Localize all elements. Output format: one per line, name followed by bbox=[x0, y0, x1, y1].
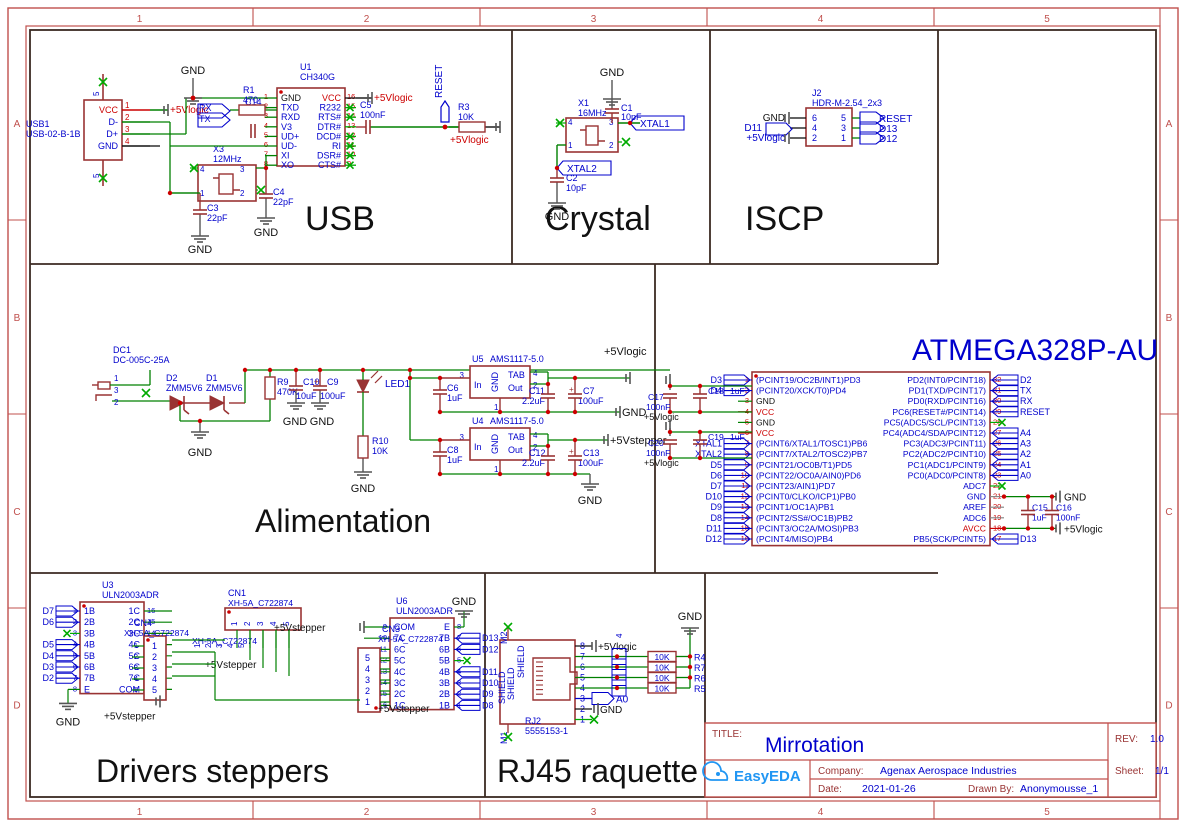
rj2-value: 5555153-1 bbox=[525, 726, 568, 736]
junction-dot bbox=[1050, 526, 1054, 530]
net-5vlogic-r3: +5Vlogic bbox=[450, 135, 489, 146]
atmega-right-pin-21: GND bbox=[967, 492, 986, 502]
atmega-right-net-A3: A3 bbox=[1020, 439, 1031, 449]
c14-cap bbox=[251, 124, 255, 138]
x1-element bbox=[586, 126, 598, 145]
atmega-left-net-D6: D6 bbox=[710, 470, 722, 480]
row-tick-right: B bbox=[1166, 313, 1173, 324]
x1-p1-junction bbox=[555, 166, 559, 170]
decoupling-group: C17100nFC181uF+5Vlogic bbox=[644, 382, 745, 422]
u1-left-num-6: 6 bbox=[264, 140, 268, 149]
atmega-right-net-A1: A1 bbox=[1020, 460, 1031, 470]
r9-value: 470K bbox=[277, 387, 298, 397]
atmega-right-pin-20: AREF bbox=[963, 502, 986, 512]
j2-right-pin-3: 3 bbox=[841, 123, 846, 133]
x3-pin2: 2 bbox=[240, 189, 245, 198]
u6-left-pin-15: 2C bbox=[394, 689, 406, 699]
atmega-right-pin-31: PD1(TXD/PCINT17) bbox=[909, 386, 986, 396]
c8-ref: C8 bbox=[447, 445, 459, 455]
atmega-right-pin-26: PC3(ADC3/PCINT11) bbox=[904, 439, 987, 449]
alim-gnd-junction bbox=[198, 419, 202, 423]
atmega-left-net-D9: D9 bbox=[710, 502, 722, 512]
col-tick-top: 3 bbox=[591, 14, 597, 25]
net-5vstepper-cn1: +5Vstepper bbox=[205, 660, 257, 671]
net-5vlogic-iscp: +5Vlogic bbox=[746, 133, 785, 144]
u1-value: CH340G bbox=[300, 72, 335, 82]
junction-dot bbox=[1026, 526, 1030, 530]
u5-regulator-num-1: 1 bbox=[494, 403, 499, 412]
atmega-left-pin-12: (PCINT0/CLKO/ICP1)PB0 bbox=[756, 492, 856, 502]
row-tick-right: D bbox=[1165, 701, 1172, 712]
net-reset-usb: RESET bbox=[434, 65, 445, 98]
c20-cap-value: 100nF bbox=[646, 448, 670, 458]
cn3-pin-3: 3 bbox=[365, 675, 370, 685]
usb1-pin-name-3: D+ bbox=[106, 129, 118, 139]
net-tx-usb: TX bbox=[199, 114, 211, 124]
atmega-left-pin-2: (PCINT20/XCK/T0)PD4 bbox=[756, 386, 846, 396]
x3-pin4: 4 bbox=[200, 165, 205, 174]
usb1-pin-num-4: 4 bbox=[125, 137, 130, 146]
r3-value: 10K bbox=[458, 112, 474, 122]
dc1-spring bbox=[96, 395, 112, 401]
cn2-pin-1: 1 bbox=[193, 643, 202, 648]
u1-right-pin-10: DSR# bbox=[317, 151, 341, 161]
col-tick-top: 1 bbox=[137, 14, 143, 25]
u3-left-pin-7: 7B bbox=[84, 673, 95, 683]
usb1-shield-pin-top: 5 bbox=[92, 91, 101, 96]
cn4-value: XH-5A_C722874 bbox=[124, 628, 189, 638]
x1-value: 16MHz bbox=[578, 108, 607, 118]
c10-junction bbox=[294, 368, 298, 372]
net-gnd-iscp: GND bbox=[763, 113, 785, 124]
d2-diode: D2ZMM5V6 bbox=[166, 373, 203, 414]
cn2-pin-5: 5 bbox=[237, 643, 246, 648]
sheet-label: Sheet: bbox=[1115, 766, 1144, 777]
col-tick-bottom: 2 bbox=[364, 807, 370, 818]
date-label: Date: bbox=[818, 784, 842, 795]
drawn-value: Anonymousse_1 bbox=[1020, 783, 1098, 795]
rj2-shield-3: SHIELD bbox=[516, 645, 526, 678]
c3-value: 22pF bbox=[207, 213, 228, 223]
cn3-pin-5: 5 bbox=[365, 653, 370, 663]
u3-e-gnd bbox=[59, 703, 77, 709]
u1-right-num-16: 16 bbox=[347, 92, 355, 101]
net-5vlogic-rj45: +5Vlogic bbox=[598, 642, 637, 653]
u1-left-pin-2: TXD bbox=[281, 103, 300, 113]
c5-value: 100nF bbox=[360, 110, 386, 120]
c8-j2 bbox=[438, 472, 442, 476]
block-caption-drivers: Drivers steppers bbox=[96, 753, 329, 789]
usb1-pin-name-2: D- bbox=[109, 117, 119, 127]
atmega-right-pin-28: PC5(ADC5/SCL/PCINT13) bbox=[884, 417, 986, 427]
junction-dot bbox=[698, 430, 702, 434]
c2-ref: C2 bbox=[566, 173, 578, 183]
r1-ref: R1 bbox=[243, 85, 255, 95]
rev-value: 1.0 bbox=[1150, 734, 1164, 745]
u6-left-pin-14: 3C bbox=[394, 678, 406, 688]
u3-left-pin-3: 3B bbox=[84, 628, 95, 638]
u1-ref: U1 bbox=[300, 62, 312, 72]
u1-right-pin-13: DTR# bbox=[317, 122, 341, 132]
u6-value: ULN2003ADR bbox=[396, 606, 454, 616]
atmega-section: (PCINT19/OC2B/INT1)PD31D3(PCINT20/XCK/T0… bbox=[644, 372, 1103, 546]
r3-ref: R3 bbox=[458, 102, 470, 112]
title-label: TITLE: bbox=[712, 729, 742, 740]
junction-dot bbox=[668, 456, 672, 460]
dc1-pin3: 3 bbox=[114, 386, 119, 395]
c8-j1 bbox=[438, 438, 442, 442]
net-5vlogic-decouple: +5Vlogic bbox=[644, 458, 679, 468]
u6-net-D8: D8 bbox=[482, 700, 494, 710]
u4-regulator-num-1: 1 bbox=[494, 465, 499, 474]
net-gnd-c3: GND bbox=[188, 244, 213, 256]
j2-left-pin-2: 2 bbox=[812, 133, 817, 143]
col-tick-top: 2 bbox=[364, 14, 370, 25]
row-tick-left: B bbox=[14, 313, 21, 324]
cn2-pin-2: 2 bbox=[204, 643, 213, 648]
usb1-pin-name-4: GND bbox=[98, 141, 119, 151]
cn3-pin-1: 1 bbox=[365, 697, 370, 707]
atmega-right-pin-17: PB5(SCK/PCINT5) bbox=[913, 534, 986, 544]
u3-pin1-marker bbox=[82, 604, 86, 608]
net-gnd-c4: GND bbox=[254, 227, 279, 239]
dc1-ref: DC1 bbox=[113, 345, 131, 355]
cn1-pin1-marker bbox=[227, 610, 231, 614]
rj45-res-value-R4: 10K bbox=[654, 652, 669, 662]
block-caption-atmega: ATMEGA328P-AU bbox=[912, 334, 1158, 367]
atmega-right-pin-19: ADC6 bbox=[963, 513, 986, 523]
drawn-label: Drawn By: bbox=[968, 784, 1014, 795]
title-block: TITLE:MirrotationREV:1.0Company:Agenax A… bbox=[703, 723, 1169, 797]
u1-left-pin-8: XO bbox=[281, 160, 294, 170]
junction-dot bbox=[1002, 494, 1006, 498]
no-connect-icon bbox=[142, 389, 150, 397]
c2-cap bbox=[550, 178, 564, 182]
u3-left-pin-2: 2B bbox=[84, 617, 95, 627]
cap-polarity-mark: + bbox=[314, 377, 319, 386]
d2-diode-value: ZMM5V6 bbox=[166, 383, 203, 393]
atmega-left-pin-3: GND bbox=[756, 396, 775, 406]
u3-left-pin-4: 4B bbox=[84, 640, 95, 650]
atmega-right-net-A2: A2 bbox=[1020, 449, 1031, 459]
atmega-right-net-RX: RX bbox=[1020, 396, 1033, 406]
led1-ref: LED1 bbox=[385, 379, 410, 390]
u1-pin1-marker bbox=[279, 90, 283, 94]
r10-value: 10K bbox=[372, 446, 388, 456]
rj45-res-ref-R6: R6 bbox=[694, 674, 706, 684]
c9-cap bbox=[313, 386, 327, 390]
d2-anode-junction bbox=[178, 401, 182, 405]
atmega-left-pin-11: (PCINT23/AIN1)PD7 bbox=[756, 481, 835, 491]
rj45-res-ref-R7: R7 bbox=[694, 663, 706, 673]
power-flag-icon bbox=[360, 621, 364, 633]
c11-j2 bbox=[546, 410, 550, 414]
x3-xo-junction bbox=[264, 166, 268, 170]
u1-left-num-4: 4 bbox=[264, 121, 268, 130]
cn3-pin-2: 2 bbox=[365, 686, 370, 696]
net-gnd-u4: GND bbox=[578, 495, 603, 507]
title-value: Mirrotation bbox=[765, 734, 864, 757]
x3-pin1: 1 bbox=[200, 189, 205, 198]
c7-j1 bbox=[573, 376, 577, 380]
u4-regulator-pin-gnd: GND bbox=[490, 434, 500, 455]
c18-cap-ref: C18 bbox=[708, 386, 724, 396]
cn3-value: XH-5A_C722874 bbox=[378, 634, 443, 644]
net-rx-usb: RX bbox=[199, 103, 212, 113]
j2-right-pin-5: 5 bbox=[841, 113, 846, 123]
atmega-right-pin-18: AVCC bbox=[963, 523, 986, 533]
atmega-left-pin-1: (PCINT19/OC2B/INT1)PD3 bbox=[756, 375, 861, 385]
usb-section: USB1USB-02-B-1BVCC1D-2D+3GND455+5VlogicU… bbox=[26, 62, 500, 256]
atmega-left-pin-5: GND bbox=[756, 417, 775, 427]
u3-net-D2: D2 bbox=[42, 673, 54, 683]
junction-dot bbox=[1050, 494, 1054, 498]
net-5vlogic-decouple: +5Vlogic bbox=[644, 412, 679, 422]
c17-cap bbox=[663, 394, 677, 398]
row-tick-left: D bbox=[13, 701, 20, 712]
cn1-ref: CN1 bbox=[228, 588, 246, 598]
cn4-pin-1: 1 bbox=[152, 641, 157, 651]
u4-regulator-ref: U4 bbox=[472, 416, 484, 426]
c9-ref: C9 bbox=[327, 377, 339, 387]
cap-polarity-mark: + bbox=[569, 447, 574, 456]
cn4-pin-5: 5 bbox=[152, 685, 157, 695]
rj45-pullup-junction-0 bbox=[688, 654, 692, 658]
x3-value: 12MHz bbox=[213, 154, 242, 164]
u3-net-D5: D5 bbox=[42, 640, 54, 650]
block-caption-alimentation: Alimentation bbox=[255, 503, 431, 539]
u6-right-pin-6: 6B bbox=[439, 644, 450, 654]
net-5vstepper-u3com: +5Vstepper bbox=[104, 711, 156, 722]
rj2-ref: RJ2 bbox=[525, 716, 541, 726]
r9-junction bbox=[268, 368, 272, 372]
row-tick-left: C bbox=[13, 507, 20, 518]
atmega-right-pin-30: PD0(RXD/PCINT16) bbox=[908, 396, 986, 406]
r1-resistor bbox=[239, 105, 265, 115]
u1-right-pin-16: VCC bbox=[322, 93, 342, 103]
x1-p3-junction bbox=[628, 121, 632, 125]
cn4-ref: CN4 bbox=[134, 618, 152, 628]
u1-right-pin-14: RTS# bbox=[318, 112, 341, 122]
rj45-flag-dot-2 bbox=[615, 675, 619, 679]
u1-left-pin-7: XI bbox=[281, 151, 290, 161]
atmega-right-net-A4: A4 bbox=[1020, 428, 1031, 438]
u4-regulator-value: AMS1117-5.0 bbox=[490, 416, 544, 426]
atmega-right-net-D2: D2 bbox=[1020, 375, 1032, 385]
net-5vstepper-u6com: +5Vstepper bbox=[274, 623, 326, 634]
u6-net-D12: D12 bbox=[482, 644, 499, 654]
u6-right-pin-4: 4B bbox=[439, 667, 450, 677]
row-tick-right: C bbox=[1165, 507, 1172, 518]
j2-left-pin-4: 4 bbox=[812, 123, 817, 133]
cn2-pin-4: 4 bbox=[226, 643, 235, 648]
no-connect-icon bbox=[464, 657, 471, 664]
c6-value: 1uF bbox=[447, 393, 463, 403]
net-gnd-c2: GND bbox=[545, 211, 570, 223]
rj45-res-value-R5: 10K bbox=[654, 684, 669, 694]
sheet-value: 1/1 bbox=[1155, 766, 1169, 777]
junction-dot bbox=[698, 384, 702, 388]
atmega-right-pin-22: ADC7 bbox=[963, 481, 986, 491]
c3-gnd bbox=[191, 236, 209, 242]
col-tick-top: 5 bbox=[1044, 14, 1050, 25]
atmega-left-pin-10: (PCINT22/OC0A/AIN0)PD6 bbox=[756, 470, 861, 480]
c4-ref: C4 bbox=[273, 187, 285, 197]
u6-right-pin-2: 2B bbox=[439, 689, 450, 699]
cn4-pin-3: 3 bbox=[152, 663, 157, 673]
u5-regulator-pin-gnd: GND bbox=[490, 372, 500, 393]
u6-ref: U6 bbox=[396, 596, 408, 606]
dc1-pin2: 2 bbox=[114, 398, 119, 407]
c12-j2 bbox=[546, 472, 550, 476]
u6-net-D11: D11 bbox=[482, 667, 498, 677]
atmega-left-pin-7: (PCINT6/XTAL1/TOSC1)PB6 bbox=[756, 439, 868, 449]
power-flag-icon bbox=[785, 112, 789, 124]
rev-label: REV: bbox=[1115, 734, 1138, 745]
usb-gnd-junction bbox=[191, 96, 196, 101]
rj45-section: RJ25555153-1SHIELDSHIELDSHIELDM2M1876543… bbox=[497, 611, 706, 744]
atmega-right-pin-32: PD2(INT0/PCINT18) bbox=[907, 375, 986, 385]
junction-dot bbox=[668, 410, 672, 414]
atmega-right-pin-29: PC6(RESET#/PCINT14) bbox=[892, 407, 986, 417]
net-5vlogic-u5: +5Vlogic bbox=[604, 346, 647, 358]
c6-ref: C6 bbox=[447, 383, 459, 393]
net-gnd-crystal-top: GND bbox=[600, 67, 625, 79]
u3-left-pin-1: 1B bbox=[84, 606, 95, 616]
c4-value: 22pF bbox=[273, 197, 294, 207]
u5-regulator-pin-in: In bbox=[474, 380, 482, 390]
u5-regulator-value: AMS1117-5.0 bbox=[490, 354, 544, 364]
net-gnd-u5: GND bbox=[622, 407, 647, 419]
cn2-pin-3: 3 bbox=[215, 643, 224, 648]
u6-right-pin-1: 1B bbox=[439, 700, 450, 710]
c17-cap-value: 100nF bbox=[646, 402, 670, 412]
atmega-right-pin-23: PC0(ADC0/PCINT8) bbox=[908, 470, 986, 480]
usb1-ref: USB1 bbox=[26, 119, 50, 129]
atmega-left-net-D5: D5 bbox=[710, 460, 722, 470]
rj2-shield-1: SHIELD bbox=[506, 667, 516, 700]
u6-net-D9: D9 bbox=[482, 689, 494, 699]
x1-pin4: 4 bbox=[568, 118, 573, 127]
led1-junction bbox=[361, 368, 365, 372]
junction-dot bbox=[698, 410, 702, 414]
atmega-left-pin-16: (PCINT4/MISO)PB4 bbox=[756, 534, 833, 544]
cn3-pin1-marker bbox=[374, 706, 378, 710]
dc1-value: DC-005C-25A bbox=[113, 355, 170, 365]
u3-left-pin-5: 5B bbox=[84, 651, 95, 661]
row-tick-left: A bbox=[14, 119, 21, 130]
c18-cap bbox=[693, 394, 707, 398]
c4-gnd bbox=[257, 218, 275, 224]
c6-junction-top bbox=[438, 376, 442, 380]
cn4-pin-2: 2 bbox=[152, 652, 157, 662]
atmega-left-pin-6: VCC bbox=[756, 428, 774, 438]
u6-net-D13: D13 bbox=[482, 633, 499, 643]
net-gnd-u6: GND bbox=[452, 596, 477, 608]
junction-dot bbox=[1026, 494, 1030, 498]
atmega-left-pin-8: (PCINT7/XTAL2/TOSC2)PB7 bbox=[756, 449, 868, 459]
col-tick-top: 4 bbox=[818, 14, 824, 25]
net-gnd-avcc: GND bbox=[1064, 493, 1086, 504]
atmega-left-pin-9: (PCINT21/OC0B/T1)PD5 bbox=[756, 460, 852, 470]
u3-net-D3: D3 bbox=[42, 662, 54, 672]
c6-cap bbox=[433, 390, 447, 394]
atmega-right-net-A0: A0 bbox=[1020, 470, 1031, 480]
c9-junction bbox=[318, 368, 322, 372]
c9-gnd-sym bbox=[311, 403, 329, 409]
c4-cap bbox=[259, 194, 273, 198]
alim-gnd bbox=[191, 432, 209, 438]
c12-j1 bbox=[546, 444, 550, 448]
cn4-pin-4: 4 bbox=[152, 674, 157, 684]
u5-regulator-ref: U5 bbox=[472, 354, 484, 364]
rj45-pullup-junction-2 bbox=[688, 675, 692, 679]
u3-ref: U3 bbox=[102, 580, 114, 590]
usb1-pin-num-2: 2 bbox=[125, 113, 130, 122]
u1-left-pin-3: RXD bbox=[281, 112, 301, 122]
rj2-shield-2: SHIELD bbox=[497, 671, 507, 704]
r10-gnd bbox=[354, 472, 372, 478]
r9-resistor bbox=[265, 377, 275, 399]
atmega-left-pin-13: (PCINT1/OC1A)PB1 bbox=[756, 502, 835, 512]
net-iscp-right-D12: D12 bbox=[879, 134, 898, 145]
net-gnd-rj45: GND bbox=[678, 611, 703, 623]
u2-pin1-marker bbox=[754, 374, 758, 378]
usb1-pin-num-3: 3 bbox=[125, 125, 130, 134]
rj45-pullup-junction-1 bbox=[688, 665, 692, 669]
cap-polarity-mark: + bbox=[569, 385, 574, 394]
net-gnd-r10: GND bbox=[351, 483, 376, 495]
u1-left-pin-5: UD+ bbox=[281, 131, 299, 141]
r3-resistor bbox=[459, 122, 485, 132]
u4-regulator-pin-in: In bbox=[474, 442, 482, 452]
drivers-section: U3ULN2003ADR1B1D72B2D63B34B4D55B5D46B6D3… bbox=[42, 580, 498, 728]
u6-right-pin-3: 3B bbox=[439, 678, 450, 688]
u4-regulator-pin-out: Out bbox=[508, 445, 523, 455]
net-gnd-alim: GND bbox=[188, 447, 213, 459]
u6-left-pin-13: 4C bbox=[394, 667, 406, 677]
net-gnd-usb-top: GND bbox=[181, 65, 206, 77]
col-tick-bottom: 5 bbox=[1044, 807, 1050, 818]
c10-value: 10uF bbox=[296, 391, 317, 401]
dc1-body bbox=[98, 382, 110, 389]
atmega-left-net-D12: D12 bbox=[705, 534, 722, 544]
u5-gnd-junction bbox=[498, 410, 502, 414]
block-caption-iscp: ISCP bbox=[745, 200, 824, 238]
usb1-pin-name-1: VCC bbox=[99, 105, 119, 115]
logo-text: EasyEDA bbox=[734, 768, 801, 785]
atmega-left-net-D10: D10 bbox=[705, 492, 722, 502]
row-tick-right: A bbox=[1166, 119, 1173, 130]
rj45-res-value-R6: 10K bbox=[654, 673, 669, 683]
power-flag-icon bbox=[1056, 522, 1060, 534]
u1-left-num-1: 1 bbox=[264, 92, 268, 101]
cn1-value: XH-5A_C722874 bbox=[228, 598, 293, 608]
u5-regulator-pin-out: Out bbox=[508, 383, 523, 393]
x3-pin3: 3 bbox=[240, 165, 245, 174]
junction-dot bbox=[668, 384, 672, 388]
u6-left-pin-12: 5C bbox=[394, 656, 406, 666]
alimentation-section: DC1DC-005C-25A132D2ZMM5V6D1ZMM5V6GNDR947… bbox=[92, 345, 670, 507]
atmega-left-net-D7: D7 bbox=[710, 481, 722, 491]
j2-left-pin-6: 6 bbox=[812, 113, 817, 123]
reg-in-j bbox=[408, 376, 412, 380]
net-a0-rj45: A0 bbox=[616, 695, 629, 706]
c1-cap bbox=[605, 109, 619, 113]
atmega-left-pin-15: (PCINT3/OC2A/MOSI)PB3 bbox=[756, 523, 859, 533]
col-tick-bottom: 3 bbox=[591, 807, 597, 818]
x1-ref: X1 bbox=[578, 98, 589, 108]
